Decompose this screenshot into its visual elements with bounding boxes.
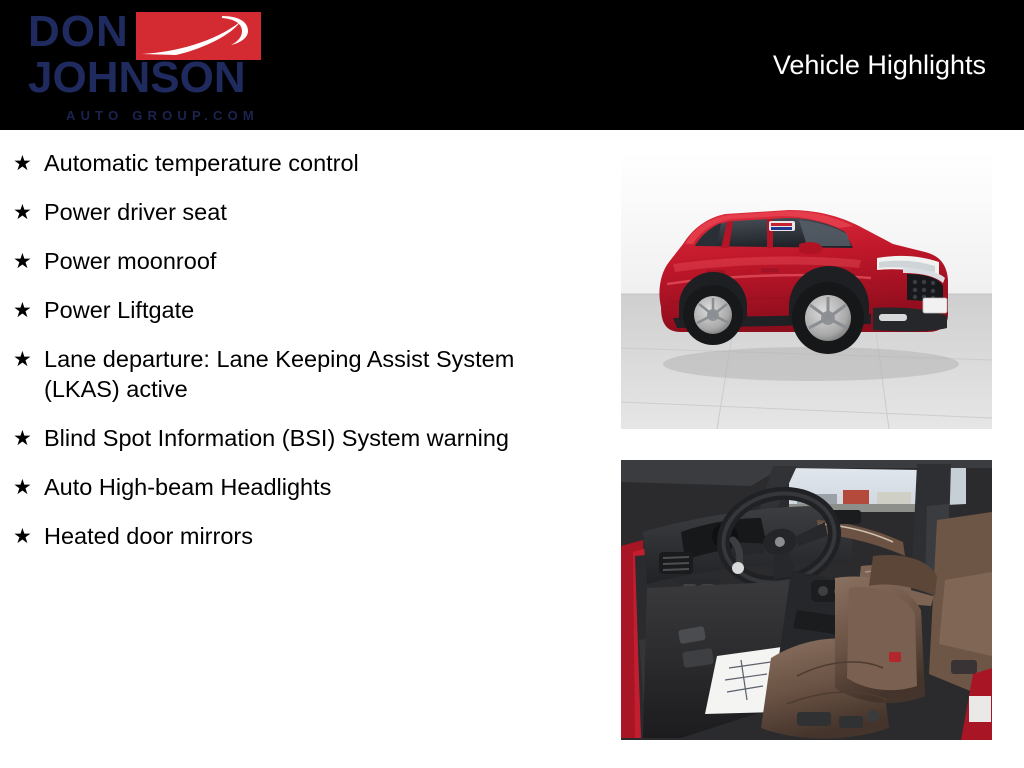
- vehicle-interior-photo[interactable]: [621, 460, 992, 740]
- star-bullet-icon: ★: [13, 521, 44, 551]
- vehicle-interior-illustration: [621, 460, 992, 740]
- feature-label: Blind Spot Information (BSI) System warn…: [44, 423, 544, 453]
- dealer-logo[interactable]: DON JOHNSON AUTO GROUP.COM: [28, 8, 268, 126]
- star-bullet-icon: ★: [13, 197, 44, 227]
- logo-line-don: DON: [28, 10, 129, 54]
- star-bullet-icon: ★: [13, 148, 44, 178]
- list-item: ★ Automatic temperature control: [0, 148, 600, 178]
- feature-label: Heated door mirrors: [44, 521, 544, 551]
- star-bullet-icon: ★: [13, 472, 44, 502]
- feature-label: Power Liftgate: [44, 295, 544, 325]
- vehicle-exterior-photo[interactable]: [621, 152, 992, 429]
- star-bullet-icon: ★: [13, 246, 44, 276]
- list-item: ★ Lane departure: Lane Keeping Assist Sy…: [0, 344, 600, 404]
- star-bullet-icon: ★: [13, 295, 44, 325]
- logo-line-johnson: JOHNSON: [28, 56, 246, 100]
- header-bar: DON JOHNSON AUTO GROUP.COM Vehicle Highl…: [0, 0, 1024, 130]
- list-item: ★ Power driver seat: [0, 197, 600, 227]
- list-item: ★ Auto High-beam Headlights: [0, 472, 600, 502]
- feature-label: Auto High-beam Headlights: [44, 472, 544, 502]
- list-item: ★ Blind Spot Information (BSI) System wa…: [0, 423, 600, 453]
- logo-tagline: AUTO GROUP.COM: [66, 108, 259, 123]
- feature-label: Automatic temperature control: [44, 148, 544, 178]
- page-title: Vehicle Highlights: [773, 50, 986, 81]
- list-item: ★ Power moonroof: [0, 246, 600, 276]
- list-item: ★ Power Liftgate: [0, 295, 600, 325]
- vehicle-highlights-list: ★ Automatic temperature control ★ Power …: [0, 148, 600, 570]
- list-item: ★ Heated door mirrors: [0, 521, 600, 551]
- star-bullet-icon: ★: [13, 344, 44, 374]
- feature-label: Power driver seat: [44, 197, 544, 227]
- star-bullet-icon: ★: [13, 423, 44, 453]
- feature-label: Power moonroof: [44, 246, 544, 276]
- feature-label: Lane departure: Lane Keeping Assist Syst…: [44, 344, 544, 404]
- vehicle-exterior-illustration: [621, 152, 992, 429]
